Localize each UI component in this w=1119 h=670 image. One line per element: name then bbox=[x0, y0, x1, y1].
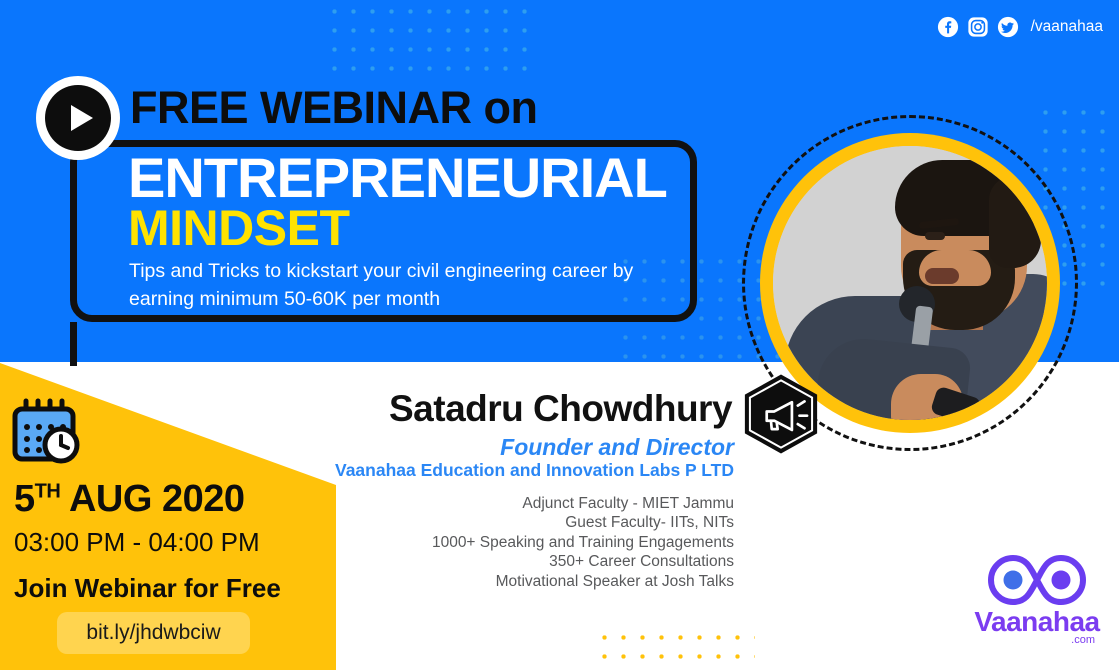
brand-logo: Vaanahaa .com bbox=[967, 553, 1107, 657]
twitter-icon[interactable] bbox=[997, 16, 1019, 38]
cta-text: Join Webinar for Free bbox=[14, 573, 281, 604]
event-date-day: 5 bbox=[14, 478, 35, 520]
credential-item: Adjunct Faculty - MIET Jammu bbox=[380, 494, 734, 513]
instagram-icon[interactable] bbox=[967, 16, 989, 38]
eyebrow-text: FREE WEBINAR on bbox=[130, 82, 537, 134]
page-title-line1: ENTREPRENEURIAL bbox=[128, 150, 667, 206]
dot-pattern-top bbox=[325, 2, 535, 80]
event-time: 03:00 PM - 04:00 PM bbox=[14, 527, 260, 558]
speaker-credentials: Adjunct Faculty - MIET Jammu Guest Facul… bbox=[380, 494, 734, 591]
credential-item: Guest Faculty- IITs, NITs bbox=[380, 513, 734, 532]
play-circle-inner bbox=[45, 85, 111, 151]
credential-item: 1000+ Speaking and Training Engagements bbox=[380, 533, 734, 552]
page-title-line2: MINDSET bbox=[128, 203, 350, 253]
headline-outline-stub bbox=[70, 322, 77, 366]
social-links[interactable]: /vaanahaa bbox=[937, 16, 1103, 38]
facebook-icon[interactable] bbox=[937, 16, 959, 38]
megaphone-hexagon-icon bbox=[739, 372, 823, 456]
registration-link-button[interactable]: bit.ly/jhdwbciw bbox=[57, 612, 250, 654]
speaker-name: Satadru Chowdhury bbox=[389, 388, 732, 430]
webinar-poster: /vaanahaa FREE WEBINAR on ENTREPRENEURIA… bbox=[0, 0, 1119, 670]
event-date: 5TH AUG 2020 bbox=[14, 478, 245, 521]
event-date-rest: AUG 2020 bbox=[60, 478, 244, 520]
social-handle: /vaanahaa bbox=[1031, 18, 1103, 36]
calendar-clock-icon bbox=[10, 396, 82, 468]
brand-name: Vaanahaa bbox=[967, 608, 1107, 636]
infinity-logo-icon bbox=[983, 553, 1091, 607]
play-circle-icon[interactable] bbox=[36, 76, 120, 160]
event-date-ordinal: TH bbox=[35, 480, 61, 502]
credential-item: Motivational Speaker at Josh Talks bbox=[380, 572, 734, 591]
subtitle-text: Tips and Tricks to kickstart your civil … bbox=[129, 258, 659, 313]
credential-item: 350+ Career Consultations bbox=[380, 552, 734, 571]
play-triangle bbox=[71, 105, 93, 131]
speaker-role: Founder and Director bbox=[389, 434, 734, 461]
speaker-organization: Vaanahaa Education and Innovation Labs P… bbox=[330, 460, 734, 481]
dot-pattern-bottom bbox=[595, 628, 755, 670]
